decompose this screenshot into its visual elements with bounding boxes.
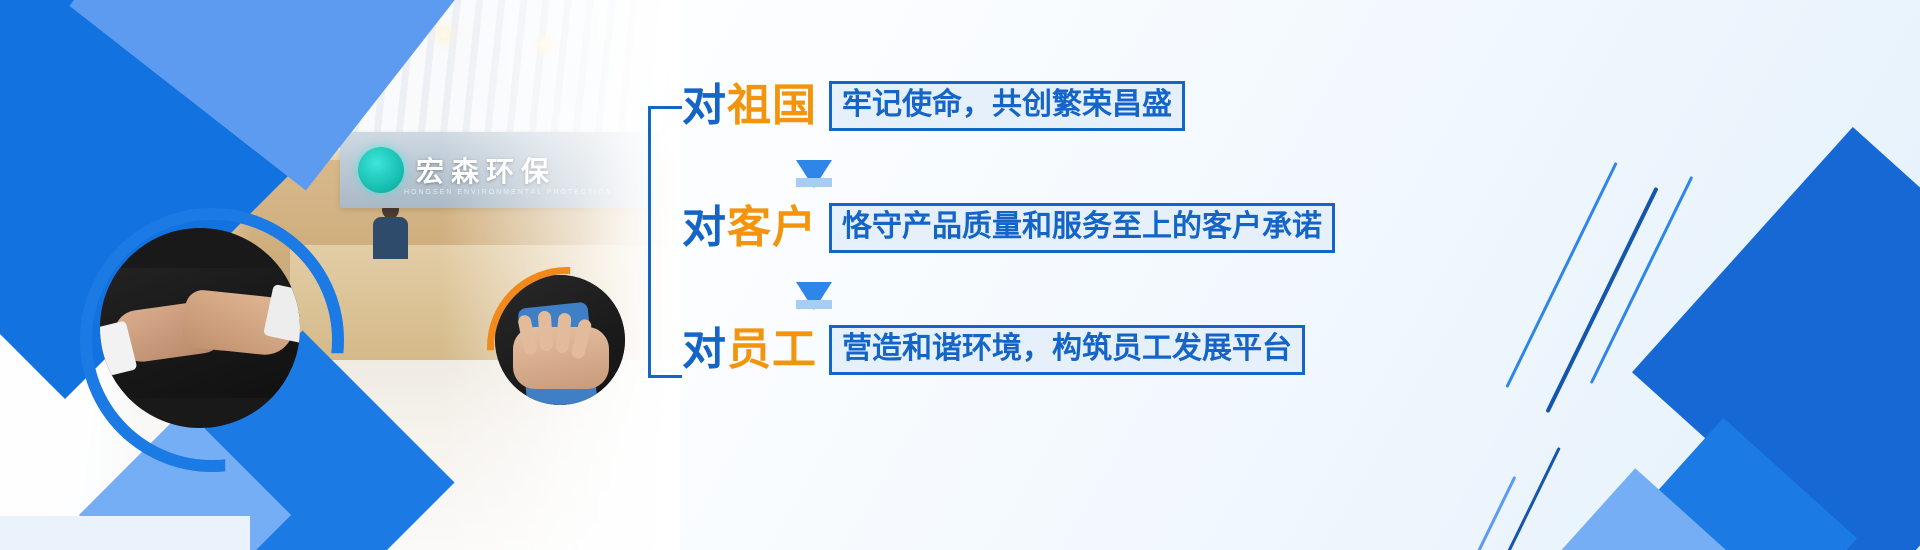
slogan-subject: 祖国	[727, 84, 817, 128]
slogan-list: 对 祖国 牢记使命，共创繁荣昌盛 对 客户 恪守产品质量和服务至上的客户承诺 对…	[648, 78, 1348, 408]
triangle-down-icon	[796, 282, 832, 310]
slogan-subject: 客户	[727, 206, 817, 250]
slogan-prefix: 对	[682, 328, 727, 372]
company-culture-banner: 宏森环保 HONGSEN ENVIRONMENTAL PROTECTION	[0, 0, 1920, 550]
slogan-row-employee: 对 员工 营造和谐环境，构筑员工发展平台	[682, 322, 1305, 378]
receptionist-body	[373, 217, 408, 259]
slogan-row-country: 对 祖国 牢记使命，共创繁荣昌盛	[682, 78, 1185, 134]
slogan-row-customer: 对 客户 恪守产品质量和服务至上的客户承诺	[682, 200, 1335, 256]
slogan-statement: 恪守产品质量和服务至上的客户承诺	[829, 203, 1335, 253]
triangle-down-icon	[796, 160, 832, 188]
bracket-connector	[648, 106, 682, 378]
triangle-down-icon-highlight	[796, 300, 832, 309]
slogan-subject: 员工	[727, 328, 817, 372]
company-logo-icon	[358, 147, 404, 193]
slogan-prefix: 对	[682, 84, 727, 128]
triangle-down-icon-highlight	[796, 178, 832, 187]
decor-bottom-strip	[0, 516, 250, 550]
slogan-prefix: 对	[682, 206, 727, 250]
decor-diagonal-line	[1457, 476, 1517, 550]
decor-diagonal-line	[1505, 162, 1617, 388]
slogan-statement: 牢记使命，共创繁荣昌盛	[829, 81, 1185, 131]
slogan-statement: 营造和谐环境，构筑员工发展平台	[829, 325, 1305, 375]
receptionist	[370, 200, 410, 258]
